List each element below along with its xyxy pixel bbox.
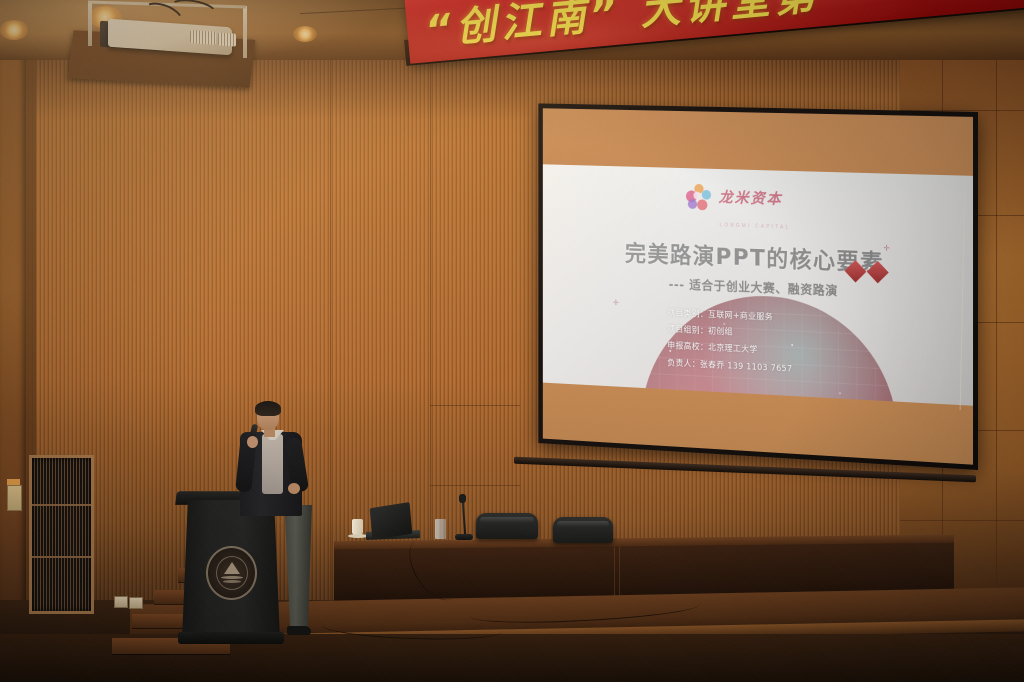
water-glass	[435, 519, 446, 539]
wall-seam	[430, 485, 520, 486]
gooseneck-microphone-base	[455, 534, 473, 540]
projector-vent	[218, 32, 236, 46]
slide-logo: 龙米资本	[684, 182, 783, 214]
ceiling-downlight	[293, 26, 317, 42]
wall-seam	[430, 405, 520, 406]
projection-screen-surface: 龙米资本 LONGMI CAPITAL 完美路演PPT的核心要素 --- 适合于…	[543, 108, 973, 464]
projector-lift-post	[88, 2, 92, 46]
projector-lift-post	[243, 6, 247, 58]
decorative-cross-marker: ✛	[883, 244, 890, 253]
lecture-hall-photo: “创江南” 大讲堂第 龙米资本 LONGMI CAPITAL	[0, 0, 1024, 682]
wall-air-vent-grille	[29, 455, 94, 614]
university-crest-icon	[206, 546, 257, 600]
tea-cup	[352, 519, 363, 535]
presenter-shoe	[287, 626, 311, 635]
projector-vent	[190, 30, 216, 45]
emergency-exit-light	[7, 485, 22, 511]
presenter-gesturing-hand	[288, 483, 300, 494]
presentation-slide: 龙米资本 LONGMI CAPITAL 完美路演PPT的核心要素 --- 适合于…	[543, 164, 973, 405]
projection-screen: 龙米资本 LONGMI CAPITAL 完美路演PPT的核心要素 --- 适合于…	[538, 103, 978, 470]
company-logo-wordmark: 龙米资本	[719, 187, 783, 209]
crest-inner	[216, 556, 248, 590]
light-switch-plate[interactable]	[129, 597, 143, 609]
laptop	[370, 502, 413, 540]
slide-info-block: 项目类别：互联网+商业服务 项目组别：初创组 申报高校：北京理工大学 负责人：张…	[667, 305, 792, 379]
light-switch-plate[interactable]	[114, 596, 128, 608]
decorative-cross-marker: ✛	[613, 298, 619, 307]
ceiling-downlight	[0, 20, 28, 40]
company-logo-icon	[684, 182, 712, 212]
presenter-hand-holding-mic	[247, 436, 258, 448]
wall-seam	[430, 60, 431, 600]
wall-seam	[330, 60, 331, 600]
presenter-hair	[255, 401, 281, 416]
gooseneck-microphone-head	[459, 494, 466, 503]
company-logo-subtext: LONGMI CAPITAL	[720, 223, 791, 231]
chair	[476, 513, 538, 539]
cup-saucer	[348, 534, 368, 538]
chair	[553, 517, 613, 543]
lectern-base	[178, 632, 284, 644]
presenter-shirt	[262, 434, 283, 494]
left-wall-column	[0, 30, 26, 670]
